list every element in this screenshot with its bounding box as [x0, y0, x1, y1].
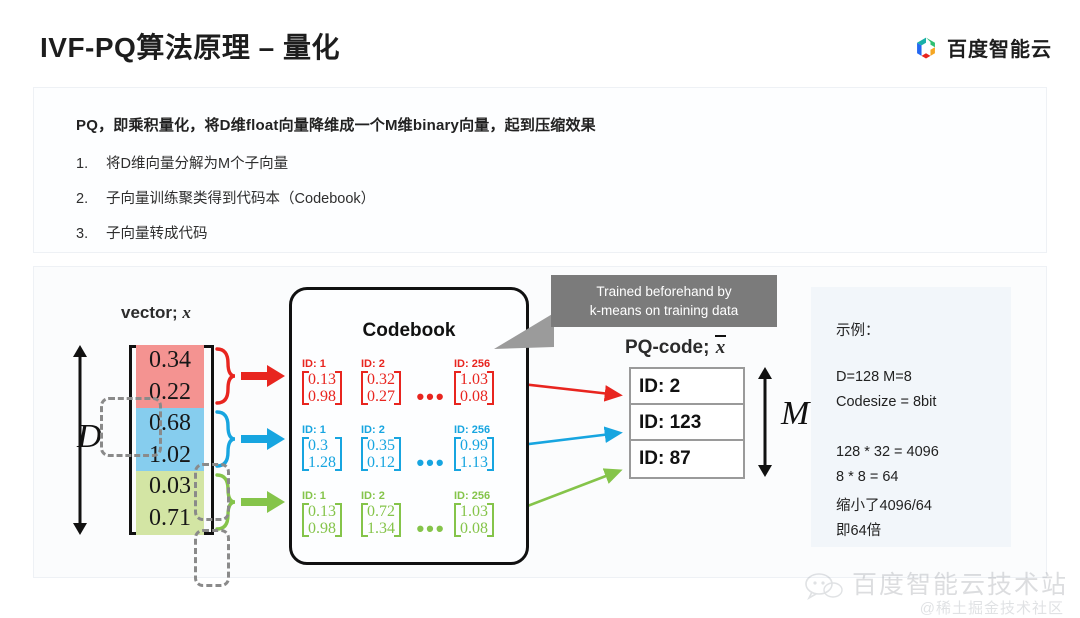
codebook-value: 1.03: [460, 503, 488, 520]
pq-code-cell: ID: 2: [631, 369, 743, 405]
selected-codeword-highlight: [100, 397, 162, 457]
arrow-right-icon: [241, 489, 285, 515]
example-line: Codesize = 8bit: [836, 394, 936, 410]
input-vector-group: vector; x D 0.34 0.22 0.68 1.02 0.03 0.7…: [59, 303, 279, 553]
diagram-panel: vector; x D 0.34 0.22 0.68 1.02 0.03 0.7…: [33, 266, 1047, 578]
codebook-entry-id: ID: 256: [454, 424, 510, 436]
codebook-entry-vector: 0.13 0.98: [302, 371, 342, 405]
codebook-entry-id: ID: 2: [361, 358, 417, 370]
codebook-entry: ID: 256 0.99 1.13: [454, 424, 510, 472]
brace-right-icon: [215, 410, 237, 468]
codebook-entry-id: ID: 1: [302, 424, 358, 436]
brace-right-icon: [215, 347, 237, 405]
codebook-entry: ID: 2 0.72 1.34: [361, 490, 417, 538]
example-line: 缩小了4096/64: [836, 494, 932, 515]
codebook-entry-vector: 1.03 0.08: [454, 371, 494, 405]
example-line: 示例：: [836, 319, 880, 340]
ellipsis-icon: •••: [414, 450, 448, 476]
codebook-entry-vector: 0.32 0.27: [361, 371, 401, 405]
codebook-value: 0.3: [308, 437, 328, 454]
codebook-entry-id: ID: 1: [302, 358, 358, 370]
codebook-entry: ID: 2 0.35 0.12: [361, 424, 417, 472]
page-title: IVF-PQ算法原理 – 量化: [40, 26, 340, 66]
vector-cell: 0.34: [136, 345, 204, 377]
lead-statement: PQ，即乘积量化，将D维float向量降维成一个M维binary向量，起到压缩效…: [76, 114, 596, 135]
brand-name: 百度智能云: [947, 33, 1052, 62]
list-item-number: 1.: [76, 156, 102, 172]
wechat-bubbles-icon: [804, 571, 844, 601]
vertical-double-arrow-icon: [754, 367, 776, 477]
codebook-value: 0.98: [308, 388, 336, 405]
codebook-entry-id: ID: 256: [454, 490, 510, 502]
callout-pointer-icon: [494, 307, 554, 355]
codebook-value: 0.12: [367, 454, 395, 471]
vector-label: vector; x: [121, 303, 191, 323]
pq-code-label: PQ-code; x: [625, 337, 726, 359]
list-item: 3. 子向量转成代码: [76, 222, 208, 243]
codebook-entry-vector: 0.13 0.98: [302, 503, 342, 537]
codebook-value: 0.32: [367, 371, 395, 388]
codebook-entry: ID: 256 1.03 0.08: [454, 490, 510, 538]
arrow-right-icon: [241, 426, 285, 452]
selected-codeword-highlight: [194, 529, 230, 587]
list-item-number: 3.: [76, 226, 102, 242]
codebook-value: 0.99: [460, 437, 488, 454]
pq-code-cell: ID: 123: [631, 405, 743, 441]
dimension-label: D: [77, 418, 102, 456]
codebook-box: Codebook ID: 1 0.13 0.98 ID: 2 0.32 0.27…: [289, 287, 529, 565]
codebook-entry-vector: 0.99 1.13: [454, 437, 494, 471]
codebook-value: 1.13: [460, 454, 488, 471]
example-line: D=128 M=8: [836, 369, 912, 385]
codebook-value: 1.03: [460, 371, 488, 388]
codebook-value: 0.98: [308, 520, 336, 537]
codebook-entry: ID: 2 0.32 0.27: [361, 358, 417, 406]
list-item-number: 2.: [76, 191, 102, 207]
subvector-count-label: M: [781, 395, 809, 433]
ellipsis-icon: •••: [414, 384, 448, 410]
codebook-entry-id: ID: 2: [361, 490, 417, 502]
brand-logo: 百度智能云: [913, 33, 1052, 62]
codebook-entry: ID: 256 1.03 0.08: [454, 358, 510, 406]
codebook-value: 0.35: [367, 437, 395, 454]
example-line: 128 * 32 = 4096: [836, 444, 939, 460]
codebook-entry-vector: 0.35 0.12: [361, 437, 401, 471]
tooltip-line-1: Trained beforehand by: [561, 282, 767, 301]
codebook-entry-id: ID: 1: [302, 490, 358, 502]
list-item: 1. 将D维向量分解为M个子向量: [76, 152, 288, 173]
vector-variable: x: [182, 303, 191, 322]
pq-code-variable: x: [715, 335, 727, 358]
codebook-value: 1.28: [308, 454, 336, 471]
codebook-entry-vector: 0.72 1.34: [361, 503, 401, 537]
codebook-value: 0.08: [460, 388, 488, 405]
ellipsis-icon: •••: [414, 516, 448, 542]
codebook-entry: ID: 1 0.13 0.98: [302, 358, 358, 406]
list-item-label: 子向量训练聚类得到代码本（Codebook）: [106, 191, 375, 207]
pq-code-table: ID: 2 ID: 123 ID: 87: [629, 367, 745, 479]
codebook-row: ID: 1 0.3 1.28 ID: 2 0.35 0.12 ••• ID: 2…: [302, 424, 522, 486]
codebook-value: 0.08: [460, 520, 488, 537]
watermark: 百度智能云技术站 @稀土掘金技术社区: [804, 565, 1068, 601]
watermark-main-text: 百度智能云技术站: [852, 565, 1068, 601]
codebook-entry-id: ID: 2: [361, 424, 417, 436]
codebook-row: ID: 1 0.13 0.98 ID: 2 0.32 0.27 ••• ID: …: [302, 358, 522, 420]
description-panel: PQ，即乘积量化，将D维float向量降维成一个M维binary向量，起到压缩效…: [33, 87, 1047, 253]
list-item-label: 子向量转成代码: [106, 226, 208, 242]
example-panel: 示例： D=128 M=8 Codesize = 8bit 128 * 32 =…: [811, 287, 1011, 547]
baidu-cloud-logo-icon: [913, 35, 939, 61]
codebook-entry: ID: 1 0.13 0.98: [302, 490, 358, 538]
selected-codeword-highlight: [194, 463, 230, 521]
codebook-row: ID: 1 0.13 0.98 ID: 2 0.72 1.34 ••• ID: …: [302, 490, 522, 552]
codebook-entry-vector: 0.3 1.28: [302, 437, 342, 471]
codebook-value: 1.34: [367, 520, 395, 537]
codebook-value: 0.27: [367, 388, 395, 405]
example-line: 即64倍: [836, 519, 881, 540]
pq-code-cell: ID: 87: [631, 441, 743, 477]
example-line: 8 * 8 = 64: [836, 469, 898, 485]
codebook-value: 0.72: [367, 503, 395, 520]
codebook-value: 0.13: [308, 503, 336, 520]
codebook-value: 0.13: [308, 371, 336, 388]
codebook-entry-id: ID: 256: [454, 358, 510, 370]
codebook-entry-vector: 1.03 0.08: [454, 503, 494, 537]
tooltip-line-2: k-means on training data: [561, 301, 767, 320]
codebook-entry: ID: 1 0.3 1.28: [302, 424, 358, 472]
tooltip-callout: Trained beforehand by k-means on trainin…: [551, 275, 777, 327]
arrow-right-icon: [241, 363, 285, 389]
codebook-title: Codebook: [292, 320, 526, 342]
list-item-label: 将D维向量分解为M个子向量: [106, 156, 288, 172]
pq-code-group: PQ-code; x ID: 2 ID: 123 ID: 87 M: [609, 337, 829, 507]
watermark-sub-text: @稀土掘金技术社区: [920, 597, 1064, 618]
list-item: 2. 子向量训练聚类得到代码本（Codebook）: [76, 187, 375, 208]
page-header: IVF-PQ算法原理 – 量化 百度智能云: [0, 0, 1080, 84]
